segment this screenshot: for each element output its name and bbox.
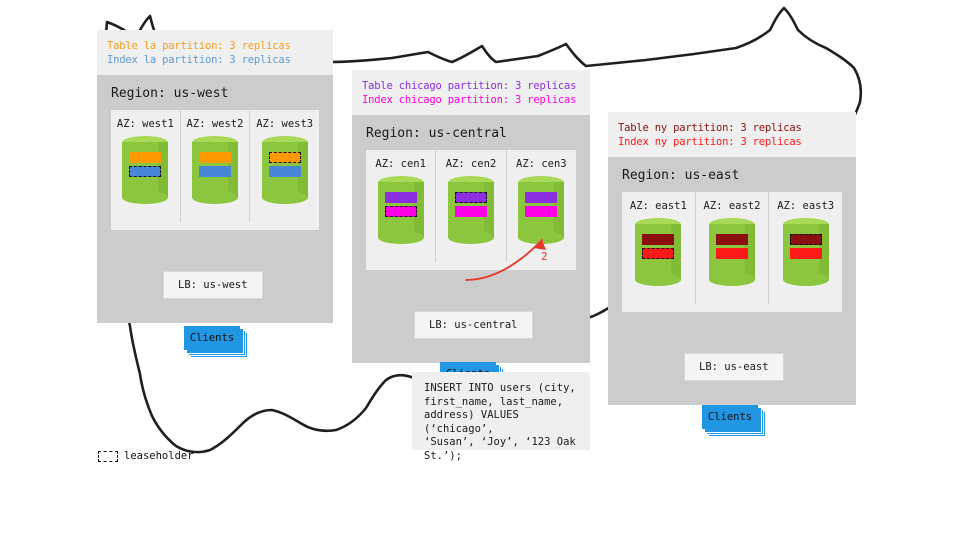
- database-node-cen3[interactable]: [518, 176, 564, 244]
- replica-index-la: [199, 166, 231, 177]
- database-node-east2[interactable]: [709, 218, 755, 286]
- banner-line-index: Index la partition: 3 replicas: [107, 53, 323, 67]
- replica-table-chicago: [525, 192, 557, 203]
- region-title-us-west: Region: us-west: [97, 75, 333, 110]
- database-node-east3[interactable]: [783, 218, 829, 286]
- replica-table-la-leaseholder: [269, 152, 301, 163]
- region-panel-us-west: Table la partition: 3 replicas Index la …: [97, 30, 333, 323]
- az-east2[interactable]: AZ: east2: [695, 192, 769, 304]
- legend-label: leaseholder: [124, 450, 194, 462]
- replica-index-la: [269, 166, 301, 177]
- load-balancer-us-east[interactable]: LB: us-east: [684, 353, 784, 381]
- region-body-us-central: Region: us-central AZ: cen1: [352, 115, 590, 363]
- az-cen2[interactable]: AZ: cen2: [435, 150, 505, 262]
- banner-line-index: Index chicago partition: 3 replicas: [362, 93, 580, 107]
- replica-index-ny-leaseholder: [642, 248, 674, 259]
- az-label-east2: AZ: east2: [696, 192, 769, 218]
- az-cen1[interactable]: AZ: cen1: [366, 150, 435, 262]
- sql-line-2: first_name, last_name,: [424, 396, 580, 410]
- az-label-west2: AZ: west2: [181, 110, 250, 136]
- az-east1[interactable]: AZ: east1: [622, 192, 695, 304]
- banner-line-table: Table la partition: 3 replicas: [107, 39, 323, 53]
- region-title-us-central: Region: us-central: [352, 115, 590, 150]
- az-label-west1: AZ: west1: [111, 110, 180, 136]
- sql-line-4: ‘Susan’, ‘Joy’, ‘123 Oak: [424, 436, 580, 450]
- region-panel-us-east: Table ny partition: 3 replicas Index ny …: [608, 112, 856, 405]
- replica-table-chicago-leaseholder: [455, 192, 487, 203]
- region-banner-us-east: Table ny partition: 3 replicas Index ny …: [608, 112, 856, 157]
- replica-index-la-leaseholder: [129, 166, 161, 177]
- region-banner-us-central: Table chicago partition: 3 replicas Inde…: [352, 70, 590, 115]
- load-balancer-us-central[interactable]: LB: us-central: [414, 311, 533, 339]
- az-label-cen3: AZ: cen3: [507, 150, 576, 176]
- az-container-us-east: AZ: east1: [622, 192, 842, 312]
- legend: leaseholder: [98, 450, 194, 462]
- az-label-west3: AZ: west3: [250, 110, 319, 136]
- az-west1[interactable]: AZ: west1: [111, 110, 180, 222]
- replica-index-chicago: [525, 206, 557, 217]
- region-body-us-west: Region: us-west AZ: west1: [97, 75, 333, 323]
- az-label-east3: AZ: east3: [769, 192, 842, 218]
- clients-label-us-east: Clients: [702, 405, 758, 429]
- replica-index-ny: [790, 248, 822, 259]
- diagram-canvas: Table la partition: 3 replicas Index la …: [0, 0, 960, 540]
- az-label-cen1: AZ: cen1: [366, 150, 435, 176]
- database-node-cen2[interactable]: [448, 176, 494, 244]
- az-label-cen2: AZ: cen2: [436, 150, 505, 176]
- az-east3[interactable]: AZ: east3: [768, 192, 842, 304]
- sql-line-3: address) VALUES (‘chicago’,: [424, 409, 580, 436]
- banner-line-table: Table chicago partition: 3 replicas: [362, 79, 580, 93]
- az-container-us-west: AZ: west1: [111, 110, 319, 230]
- az-cen3[interactable]: AZ: cen3: [506, 150, 576, 262]
- replica-table-ny: [642, 234, 674, 245]
- replica-index-chicago-leaseholder: [385, 206, 417, 217]
- load-balancer-us-west[interactable]: LB: us-west: [163, 271, 263, 299]
- region-body-us-east: Region: us-east AZ: east1: [608, 157, 856, 405]
- clients-label-us-west: Clients: [184, 326, 240, 350]
- region-banner-us-west: Table la partition: 3 replicas Index la …: [97, 30, 333, 75]
- dashed-rect-icon: [98, 451, 118, 462]
- banner-line-table: Table ny partition: 3 replicas: [618, 121, 846, 135]
- sql-line-1: INSERT INTO users (city,: [424, 382, 580, 396]
- region-panel-us-central: Table chicago partition: 3 replicas Inde…: [352, 70, 590, 363]
- banner-line-index: Index ny partition: 3 replicas: [618, 135, 846, 149]
- region-title-us-east: Region: us-east: [608, 157, 856, 192]
- database-node-west1[interactable]: [122, 136, 168, 204]
- sql-statement-box: INSERT INTO users (city, first_name, las…: [412, 372, 590, 450]
- az-label-east1: AZ: east1: [622, 192, 695, 218]
- sql-line-5: St.’);: [424, 450, 580, 464]
- clients-us-west[interactable]: Clients: [184, 326, 240, 350]
- replica-index-chicago: [455, 206, 487, 217]
- az-west2[interactable]: AZ: west2: [180, 110, 250, 222]
- database-node-cen1[interactable]: [378, 176, 424, 244]
- replica-table-chicago: [385, 192, 417, 203]
- replica-table-la: [129, 152, 161, 163]
- arrow-step-label: 2: [541, 250, 548, 263]
- az-west3[interactable]: AZ: west3: [249, 110, 319, 222]
- replica-table-la: [199, 152, 231, 163]
- database-node-west2[interactable]: [192, 136, 238, 204]
- replica-table-ny: [716, 234, 748, 245]
- database-node-west3[interactable]: [262, 136, 308, 204]
- clients-us-east[interactable]: Clients: [702, 405, 758, 429]
- replica-index-ny: [716, 248, 748, 259]
- database-node-east1[interactable]: [635, 218, 681, 286]
- replica-table-ny-leaseholder: [790, 234, 822, 245]
